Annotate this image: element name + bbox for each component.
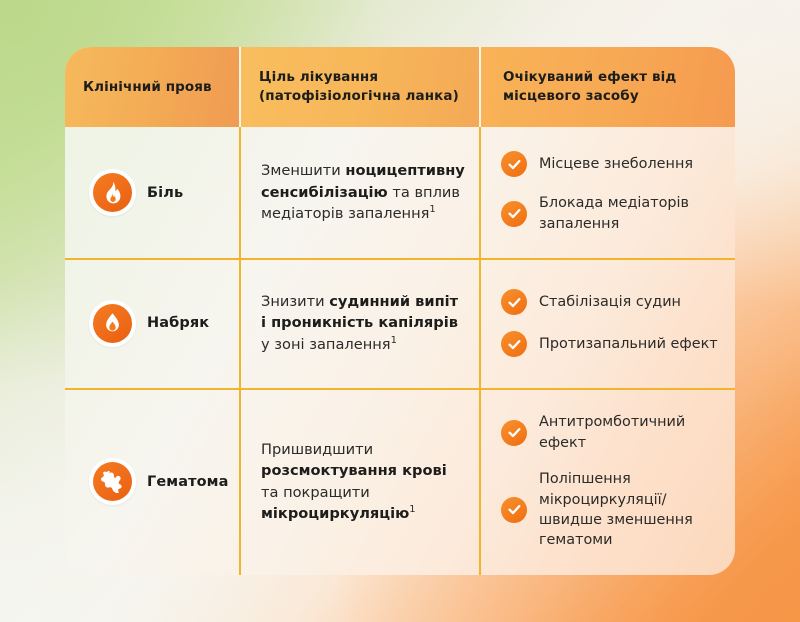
symptom-cell-swelling: Набряк — [65, 258, 239, 388]
symptom-swelling: Набряк — [89, 300, 209, 347]
infographic-canvas: Клінічний прояв Ціль лікування (патофізі… — [0, 0, 800, 622]
table-header-cell-clinical-manifestation: Клінічний прояв — [65, 47, 239, 127]
check-circle-icon — [501, 289, 527, 315]
column-divider-1 — [239, 127, 241, 575]
goal-text: Пришвидшити розсмоктування крові та покр… — [261, 439, 465, 525]
symptom-badge — [89, 458, 136, 505]
symptom-badge — [89, 300, 136, 347]
table-header-label-treatment-goal: Ціль лікування (патофізіологічна ланка) — [259, 68, 459, 105]
table-row: Набряк Знизити судинний випіт і проникні… — [65, 258, 735, 388]
symptom-label: Гематома — [147, 474, 229, 490]
symptom-badge — [89, 169, 136, 216]
comparison-table-card: Клінічний прояв Ціль лікування (патофізі… — [65, 47, 735, 575]
check-circle-icon — [501, 151, 527, 177]
effect-item: Антитромботичний ефект — [501, 412, 719, 453]
table-header-cell-treatment-goal: Ціль лікування (патофізіологічна ланка) — [241, 47, 479, 127]
symptom-cell-hematoma: Гематома — [65, 388, 239, 575]
check-circle-icon — [501, 201, 527, 227]
symptom-pain: Біль — [89, 169, 183, 216]
goal-text: Знизити судинний випіт і проникність кап… — [261, 291, 465, 355]
effect-item: Протизапальний ефект — [501, 331, 719, 357]
table-header-cell-expected-effect: Очікуваний ефект від місцевого засобу — [481, 47, 735, 127]
effect-item: Поліпшення мікроциркуляції/ швидше зменш… — [501, 469, 719, 551]
effects-cell-hematoma: Антитромботичний ефект Поліпшення мікроц… — [479, 388, 735, 575]
check-circle-icon — [501, 420, 527, 446]
effects-cell-swelling: Стабілізація судин Протизапальний ефект — [479, 258, 735, 388]
table-header-label-clinical-manifestation: Клінічний прояв — [83, 78, 212, 97]
goal-text: Зменшити ноцицептивну сенсибілізацію та … — [261, 160, 465, 224]
table-row: Гематома Пришвидшити розсмоктування кров… — [65, 388, 735, 575]
effects-list: Місцеве знеболення Блокада медіаторів за… — [501, 151, 719, 234]
symptom-cell-pain: Біль — [65, 127, 239, 258]
effect-label: Поліпшення мікроциркуляції/ швидше зменш… — [539, 469, 719, 551]
effect-label: Місцеве знеболення — [539, 154, 693, 174]
table-header-label-expected-effect: Очікуваний ефект від місцевого засобу — [503, 68, 676, 105]
check-circle-icon — [501, 497, 527, 523]
effect-label: Протизапальний ефект — [539, 334, 718, 354]
goal-cell-pain: Зменшити ноцицептивну сенсибілізацію та … — [239, 127, 479, 258]
symptom-label: Біль — [147, 185, 183, 201]
effects-cell-pain: Місцеве знеболення Блокада медіаторів за… — [479, 127, 735, 258]
water-drop-icon — [93, 304, 132, 343]
effect-item: Місцеве знеболення — [501, 151, 719, 177]
row-divider-2 — [65, 388, 735, 390]
column-divider-2 — [479, 127, 481, 575]
effect-label: Блокада медіаторів запалення — [539, 193, 719, 234]
effect-label: Стабілізація судин — [539, 292, 681, 312]
goal-cell-swelling: Знизити судинний випіт і проникність кап… — [239, 258, 479, 388]
symptom-hematoma: Гематома — [89, 458, 229, 505]
check-circle-icon — [501, 331, 527, 357]
effect-item: Стабілізація судин — [501, 289, 719, 315]
goal-cell-hematoma: Пришвидшити розсмоктування крові та покр… — [239, 388, 479, 575]
blood-blob-icon — [93, 462, 132, 501]
effects-list: Антитромботичний ефект Поліпшення мікроц… — [501, 412, 719, 551]
symptom-label: Набряк — [147, 315, 209, 331]
table-header-row: Клінічний прояв Ціль лікування (патофізі… — [65, 47, 735, 127]
effect-label: Антитромботичний ефект — [539, 412, 719, 453]
table-body: Біль Зменшити ноцицептивну сенсибілізаці… — [65, 127, 735, 575]
table-row: Біль Зменшити ноцицептивну сенсибілізаці… — [65, 127, 735, 258]
effects-list: Стабілізація судин Протизапальний ефект — [501, 289, 719, 357]
row-divider-1 — [65, 258, 735, 260]
effect-item: Блокада медіаторів запалення — [501, 193, 719, 234]
flame-icon — [93, 173, 132, 212]
